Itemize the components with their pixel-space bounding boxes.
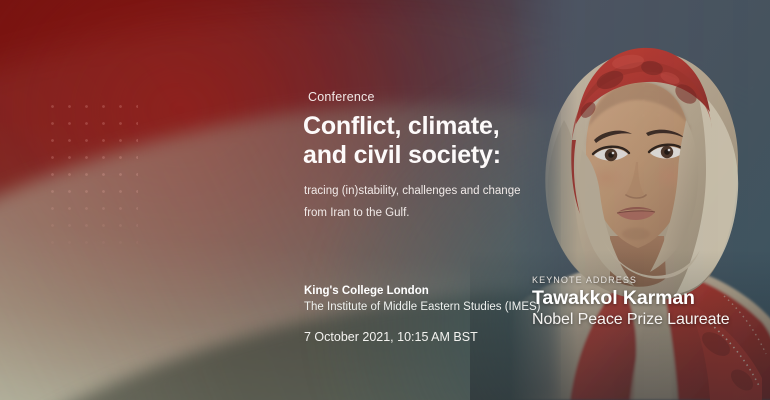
title-line-2: and civil society: [303, 141, 553, 170]
event-datetime: 7 October 2021, 10:15 AM BST [304, 330, 478, 344]
conference-banner: Conference Conflict, climate, and civil … [0, 0, 770, 400]
keynote-address-label: KEYNOTE ADDRESS [532, 274, 770, 286]
keynote-speaker-name: Tawakkol Karman [532, 287, 770, 310]
page-title: Conflict, climate, and civil society: [303, 112, 553, 170]
event-type-label: Conference [308, 90, 375, 104]
organisation-department: The Institute of Middle Eastern Studies … [304, 299, 564, 316]
keynote-speaker-role: Nobel Peace Prize Laureate [532, 310, 770, 330]
organisation-block: King's College London The Institute of M… [304, 284, 564, 316]
organisation-name: King's College London [304, 284, 564, 299]
banner-content: Conference Conflict, climate, and civil … [0, 0, 770, 400]
page-subtitle: tracing (in)stability, challenges and ch… [304, 180, 554, 224]
subtitle-line-1: tracing (in)stability, challenges and ch… [304, 180, 554, 202]
keynote-block: KEYNOTE ADDRESS Tawakkol Karman Nobel Pe… [532, 274, 770, 330]
subtitle-line-2: from Iran to the Gulf. [304, 202, 554, 224]
title-line-1: Conflict, climate, [303, 112, 553, 141]
